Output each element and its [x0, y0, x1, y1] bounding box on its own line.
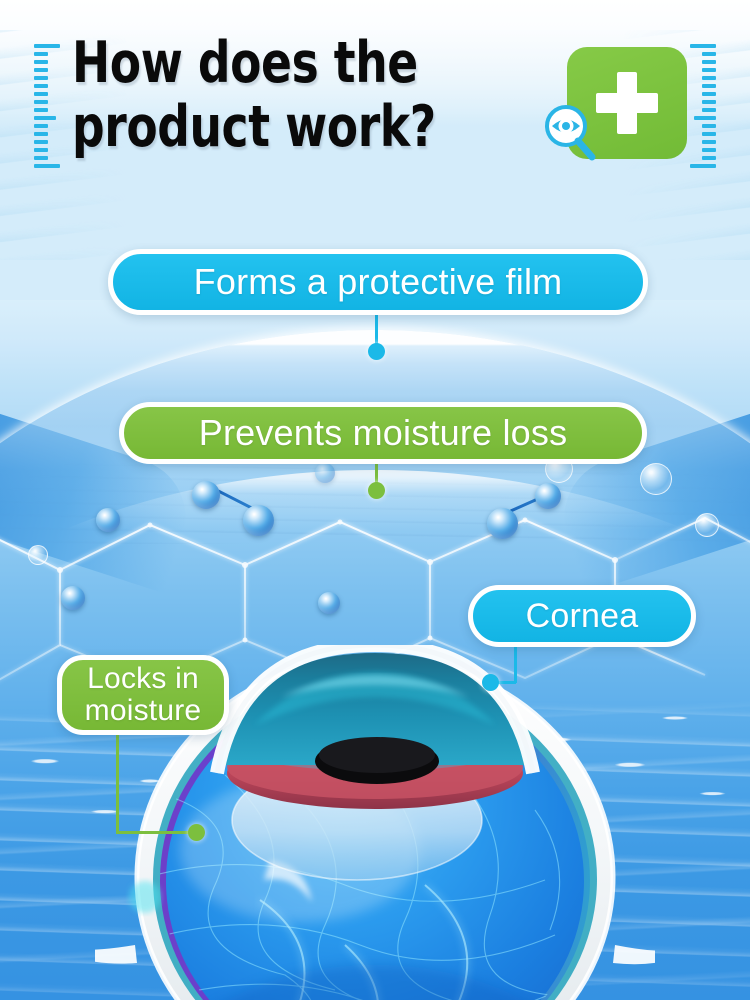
- molecule-sphere: [243, 505, 274, 536]
- callout-forms-protective-film[interactable]: Forms a protective film: [108, 249, 648, 315]
- dashed-bracket-left-icon: [34, 44, 60, 162]
- page-title: How does the product work?: [72, 36, 542, 154]
- callout-prevents-moisture-loss[interactable]: Prevents moisture loss: [119, 402, 647, 464]
- callout-cornea[interactable]: Cornea: [468, 585, 696, 647]
- molecule-sphere: [61, 586, 85, 610]
- water-bubble: [695, 513, 719, 537]
- leader-line-cornea-vertical: [514, 645, 517, 683]
- leader-dot-moisture: [368, 482, 385, 499]
- infographic-poster: How does the product work? Forms a prote…: [0, 0, 750, 1000]
- leader-dot-cornea: [482, 674, 499, 691]
- water-bubble: [28, 545, 48, 565]
- dashed-bracket-right-icon: [690, 44, 716, 162]
- title-line-2: product work?: [72, 100, 448, 155]
- leader-dot-locks: [188, 824, 205, 841]
- molecule-sphere: [535, 483, 561, 509]
- molecule-sphere: [487, 508, 518, 539]
- molecule-sphere: [315, 463, 335, 483]
- molecule-sphere: [96, 508, 120, 532]
- callout-locks-in-moisture[interactable]: Locks in moisture: [57, 655, 229, 735]
- water-bubble: [640, 463, 672, 495]
- eye-magnifier-icon: [542, 103, 600, 163]
- leader-line-locks-horizontal: [116, 831, 198, 834]
- leader-line-locks-vertical: [116, 733, 119, 833]
- molecule-sphere: [318, 592, 340, 614]
- cross-glyph: [596, 72, 658, 134]
- title-line-1: How does the: [72, 36, 448, 91]
- leader-dot-film: [368, 343, 385, 360]
- molecule-sphere: [192, 481, 220, 509]
